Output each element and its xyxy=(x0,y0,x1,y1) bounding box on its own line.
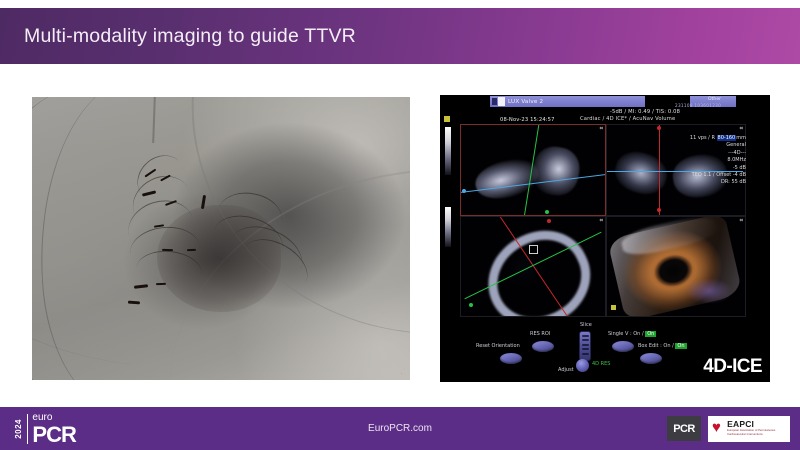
ice-param-mode: ---4D--- xyxy=(662,150,746,157)
ice-param-depth-unit: mm xyxy=(736,135,746,141)
orientation-marker-icon xyxy=(611,305,616,310)
ice-param-gain: -5 dB xyxy=(662,165,746,172)
control-label-adjust: Adjust xyxy=(558,367,574,373)
ice-param-rate-prefix: 11 vps / R xyxy=(690,135,715,141)
ice-timestamp: 08-Nov-23 15:24:57 xyxy=(500,117,555,123)
plane-handle-green[interactable] xyxy=(545,210,549,214)
ice-marker-square-icon xyxy=(444,116,450,122)
measurement-caliper[interactable] xyxy=(529,245,538,254)
control-label-slice: Slice xyxy=(580,322,592,328)
badge-eapci[interactable]: ♥ EAPCI European Association of Percutan… xyxy=(708,416,790,442)
ice-parameter-panel: 11 vps / R 80-160mm General ---4D--- 8.0… xyxy=(662,135,746,187)
fluoroscopy-image: . xyxy=(32,97,410,380)
ice-param-frequency: 8.0MHz xyxy=(662,157,746,164)
ice-banner-thumb-icon xyxy=(498,97,505,106)
ice-patient-banner[interactable]: LUX Valve 2 xyxy=(490,96,645,107)
control-label-box-edit: Box Edit : On / On xyxy=(638,343,687,349)
slide-footer: 2024 euro PCR EuroPCR.com PCR ♥ EAPCI Eu… xyxy=(0,407,800,450)
ice-study-type: Other xyxy=(708,97,721,102)
control-knob-res-roi[interactable] xyxy=(532,341,554,352)
plane-handle-green[interactable] xyxy=(469,303,473,307)
crosshair-icon[interactable]: ⌗ xyxy=(600,125,603,133)
ice-view-3d-volume[interactable]: ⌗ xyxy=(606,216,746,317)
ice-grayscale-bar xyxy=(445,127,451,175)
ice-param-rate-depth: 11 vps / R 80-160mm xyxy=(662,135,746,142)
ice-view-top-left[interactable]: ⌗ xyxy=(460,124,606,216)
ice-banner-icon xyxy=(492,98,497,105)
control-knob-single-v[interactable] xyxy=(612,341,634,352)
ice-grayscale-bar xyxy=(445,207,451,247)
heart-glyph: ♥ xyxy=(712,421,727,435)
ice-preset-readout: Cardiac / 4D ICE* / AcuNav Volume xyxy=(580,116,675,122)
plane-handle-blue[interactable] xyxy=(462,189,466,193)
slide-root: Multi-modality imaging to guide TTVR xyxy=(0,0,800,450)
crosshair-icon[interactable]: ⌗ xyxy=(740,217,743,225)
heart-icon: ♥ xyxy=(712,421,723,436)
slide-title-bar: Multi-modality imaging to guide TTVR xyxy=(0,8,800,64)
plane-handle-red[interactable] xyxy=(657,126,661,130)
ice-view-bottom-left[interactable]: ⌗ xyxy=(460,216,606,317)
control-label-res-roi: RES ROI xyxy=(530,331,550,337)
crosshair-icon[interactable]: ⌗ xyxy=(600,217,603,225)
slide-content: . LUX Valve 2 Other 231108 103601230 -5d… xyxy=(0,64,800,404)
plane-handle-red[interactable] xyxy=(657,208,661,212)
ice-control-bar: Reset Orientation RES ROI Slice Single V… xyxy=(440,317,770,382)
ice-param-depth-value[interactable]: 80-160 xyxy=(717,135,737,141)
ice-param-teq-offset: TEQ 1.1 / Offset -4 dB xyxy=(662,172,746,179)
ice-power-readout: -5dB / MI: 0.49 / TIS: 0.08 xyxy=(610,109,680,115)
badge-eapci-subtitle: European Association of Percutaneous Car… xyxy=(727,429,790,437)
ice-param-map: General xyxy=(662,142,746,149)
badge-eapci-name: EAPCI xyxy=(727,420,790,429)
ice-ultrasound-screen: LUX Valve 2 Other 231108 103601230 -5dB … xyxy=(440,95,770,382)
badge-pcr-text: PCR xyxy=(673,423,694,435)
control-label-single-v: Single V : On / On xyxy=(608,331,656,337)
volume-render-shadow xyxy=(687,279,731,303)
control-text-box-edit: Box Edit : On / xyxy=(638,343,674,349)
ice-brand-label: 4D-ICE xyxy=(703,356,762,378)
control-knob-reset-orientation[interactable] xyxy=(500,353,522,364)
footer-badges: PCR ♥ EAPCI European Association of Perc… xyxy=(667,415,790,442)
control-joystick-adjust[interactable] xyxy=(576,359,589,372)
badge-pcr[interactable]: PCR xyxy=(667,416,701,441)
control-state-box-edit[interactable]: On xyxy=(675,343,686,349)
control-knob-box-edit[interactable] xyxy=(640,353,662,364)
tissue-speckle xyxy=(529,143,583,198)
control-state-single-v[interactable]: On xyxy=(645,331,656,337)
page-title: Multi-modality imaging to guide TTVR xyxy=(0,25,356,48)
fluoro-corner-mark: . xyxy=(401,370,402,376)
control-label-4d-res: 4D RES xyxy=(592,361,610,367)
plane-handle-red[interactable] xyxy=(547,219,551,223)
ice-patient-name: LUX Valve 2 xyxy=(508,99,543,105)
control-slider-slice[interactable] xyxy=(579,331,591,361)
control-text-single-v: Single V : On / xyxy=(608,331,644,337)
ice-accession-number: 231108 103601230 xyxy=(675,103,721,108)
ice-param-dynamic-range: DR: 55 dB xyxy=(662,179,746,186)
control-label-reset-orientation: Reset Orientation xyxy=(476,343,520,349)
crosshair-icon[interactable]: ⌗ xyxy=(740,125,743,133)
plane-line-red[interactable] xyxy=(659,125,660,215)
